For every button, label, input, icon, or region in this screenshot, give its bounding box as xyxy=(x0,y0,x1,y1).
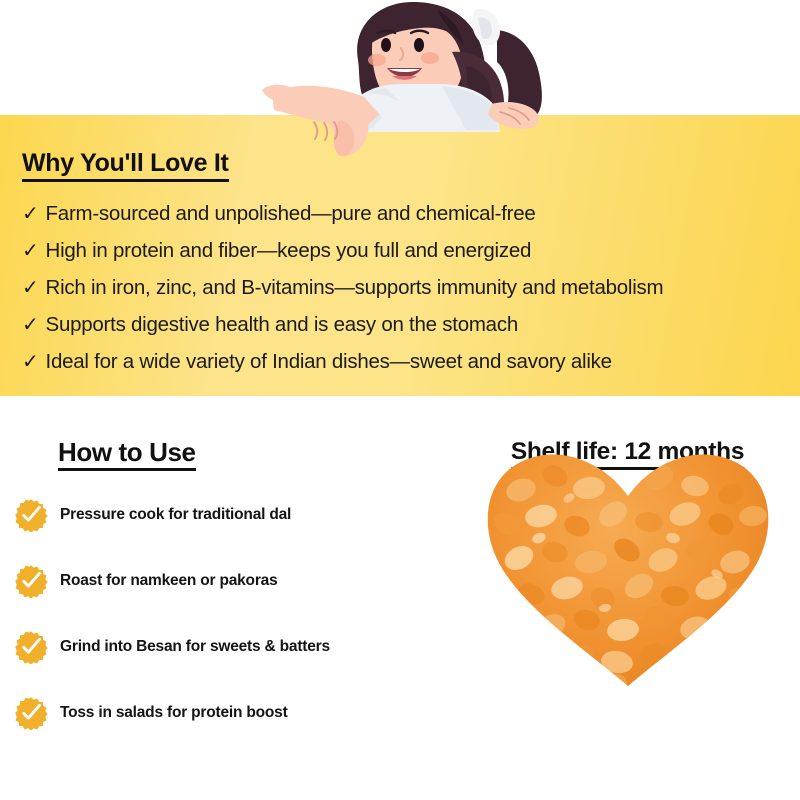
benefit-text: Farm-sourced and unpolished—pure and che… xyxy=(46,199,536,229)
woman-illustration xyxy=(0,0,800,120)
check-icon: ✓ xyxy=(22,348,39,377)
benefit-item: ✓ Rich in iron, zinc, and B-vitamins—sup… xyxy=(22,273,778,303)
use-item-label: Pressure cook for traditional dal xyxy=(60,506,291,524)
benefits-banner: Why You'll Love It ✓ Farm-sourced and un… xyxy=(0,115,800,396)
banner-title: Why You'll Love It xyxy=(22,149,229,182)
use-item-label: Roast for namkeen or pakoras xyxy=(60,572,278,590)
use-item: Grind into Besan for sweets & batters xyxy=(14,614,454,680)
check-icon: ✓ xyxy=(22,200,39,229)
use-item: Pressure cook for traditional dal xyxy=(14,482,454,548)
lower-section: How to Use Pressure cook for traditional… xyxy=(0,396,800,800)
benefit-item: ✓ Supports digestive health and is easy … xyxy=(22,310,778,340)
use-item: Toss in salads for protein boost xyxy=(14,680,454,746)
benefit-text: High in protein and fiber—keeps you full… xyxy=(46,236,532,266)
benefit-text: Ideal for a wide variety of Indian dishe… xyxy=(46,347,612,377)
how-to-use-column: How to Use Pressure cook for traditional… xyxy=(0,396,455,800)
how-to-use-title: How to Use xyxy=(58,438,196,471)
benefit-text: Rich in iron, zinc, and B-vitamins—suppo… xyxy=(46,273,664,303)
check-icon: ✓ xyxy=(22,237,39,266)
check-badge-icon xyxy=(14,564,48,598)
benefit-item: ✓ Ideal for a wide variety of Indian dis… xyxy=(22,347,778,377)
hair-shape xyxy=(357,2,542,123)
use-item-label: Grind into Besan for sweets & batters xyxy=(60,638,330,656)
use-item: Roast for namkeen or pakoras xyxy=(14,548,454,614)
lentil-heart-image xyxy=(473,418,783,708)
check-icon: ✓ xyxy=(22,311,39,340)
check-badge-icon xyxy=(14,498,48,532)
shelf-life-column: Shelf life: 12 months xyxy=(455,396,800,800)
check-badge-icon xyxy=(14,696,48,730)
benefit-text: Supports digestive health and is easy on… xyxy=(46,310,518,340)
face xyxy=(368,6,464,106)
benefit-item: ✓ Farm-sourced and unpolished—pure and c… xyxy=(22,199,778,229)
infographic-page: Why You'll Love It ✓ Farm-sourced and un… xyxy=(0,0,800,800)
use-item-label: Toss in salads for protein boost xyxy=(60,704,288,722)
check-badge-icon xyxy=(14,630,48,664)
check-icon: ✓ xyxy=(22,274,39,303)
benefits-list: ✓ Farm-sourced and unpolished—pure and c… xyxy=(22,199,778,377)
how-to-use-list: Pressure cook for traditional dal Roast … xyxy=(14,482,454,746)
benefit-item: ✓ High in protein and fiber—keeps you fu… xyxy=(22,236,778,266)
